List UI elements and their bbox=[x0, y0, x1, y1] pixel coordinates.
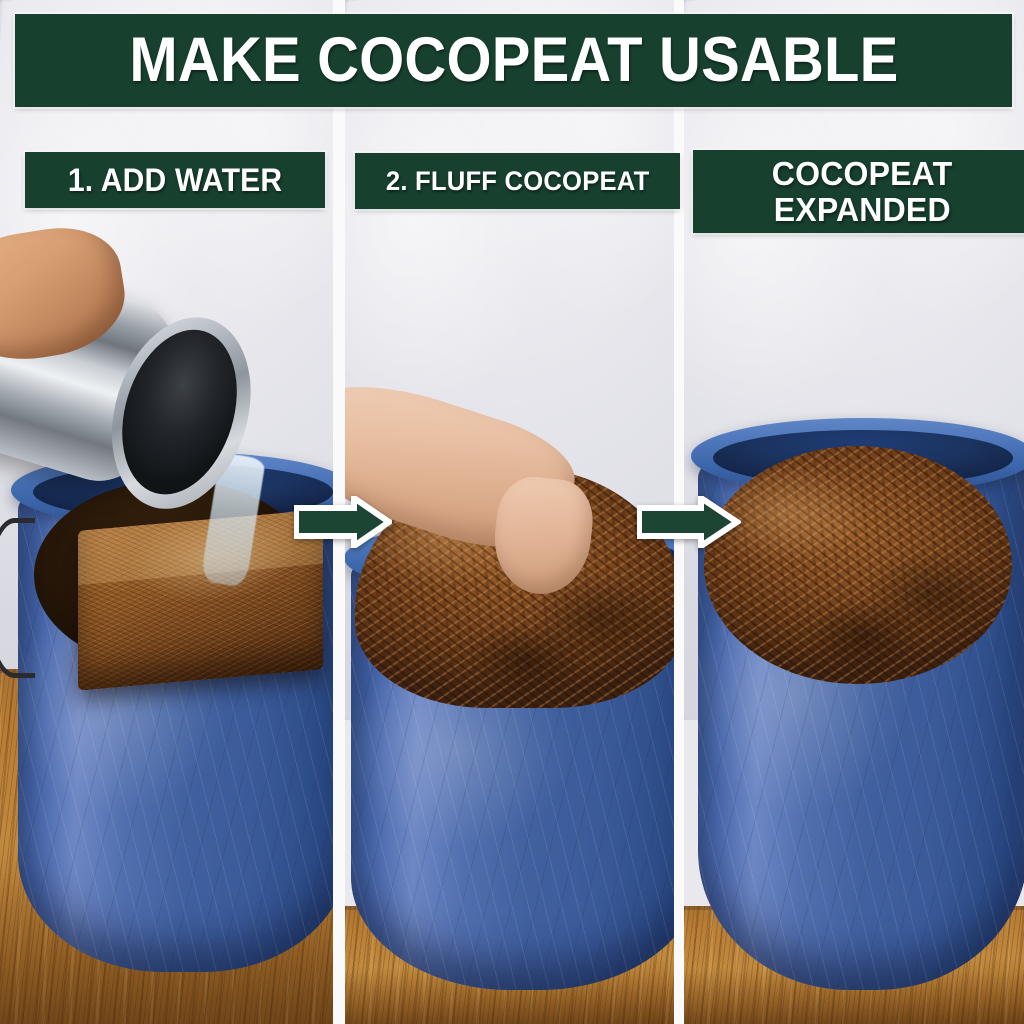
step-label-3-line2: EXPANDED bbox=[774, 192, 951, 228]
page-title-banner: MAKE COCOPEAT USABLE bbox=[15, 14, 1012, 107]
infographic-canvas: MAKE COCOPEAT USABLE 1. ADD WATER 2. FLU… bbox=[0, 0, 1024, 1024]
step-label-2: 2. FLUFF COCOPEAT bbox=[355, 153, 680, 209]
cocopeat-brick bbox=[78, 509, 323, 690]
arrow-step-1-to-2 bbox=[294, 496, 392, 548]
step-label-3: COCOPEAT EXPANDED bbox=[693, 150, 1024, 233]
step-label-2-text: 2. FLUFF COCOPEAT bbox=[386, 166, 650, 197]
expanded-cocopeat bbox=[704, 446, 1012, 684]
page-title: MAKE COCOPEAT USABLE bbox=[129, 29, 898, 92]
step-label-3-line1: COCOPEAT bbox=[772, 156, 953, 192]
arrow-step-2-to-3 bbox=[637, 496, 741, 548]
step-label-1: 1. ADD WATER bbox=[25, 152, 325, 208]
bucket-handle bbox=[0, 518, 35, 678]
step-label-1-text: 1. ADD WATER bbox=[68, 162, 282, 199]
